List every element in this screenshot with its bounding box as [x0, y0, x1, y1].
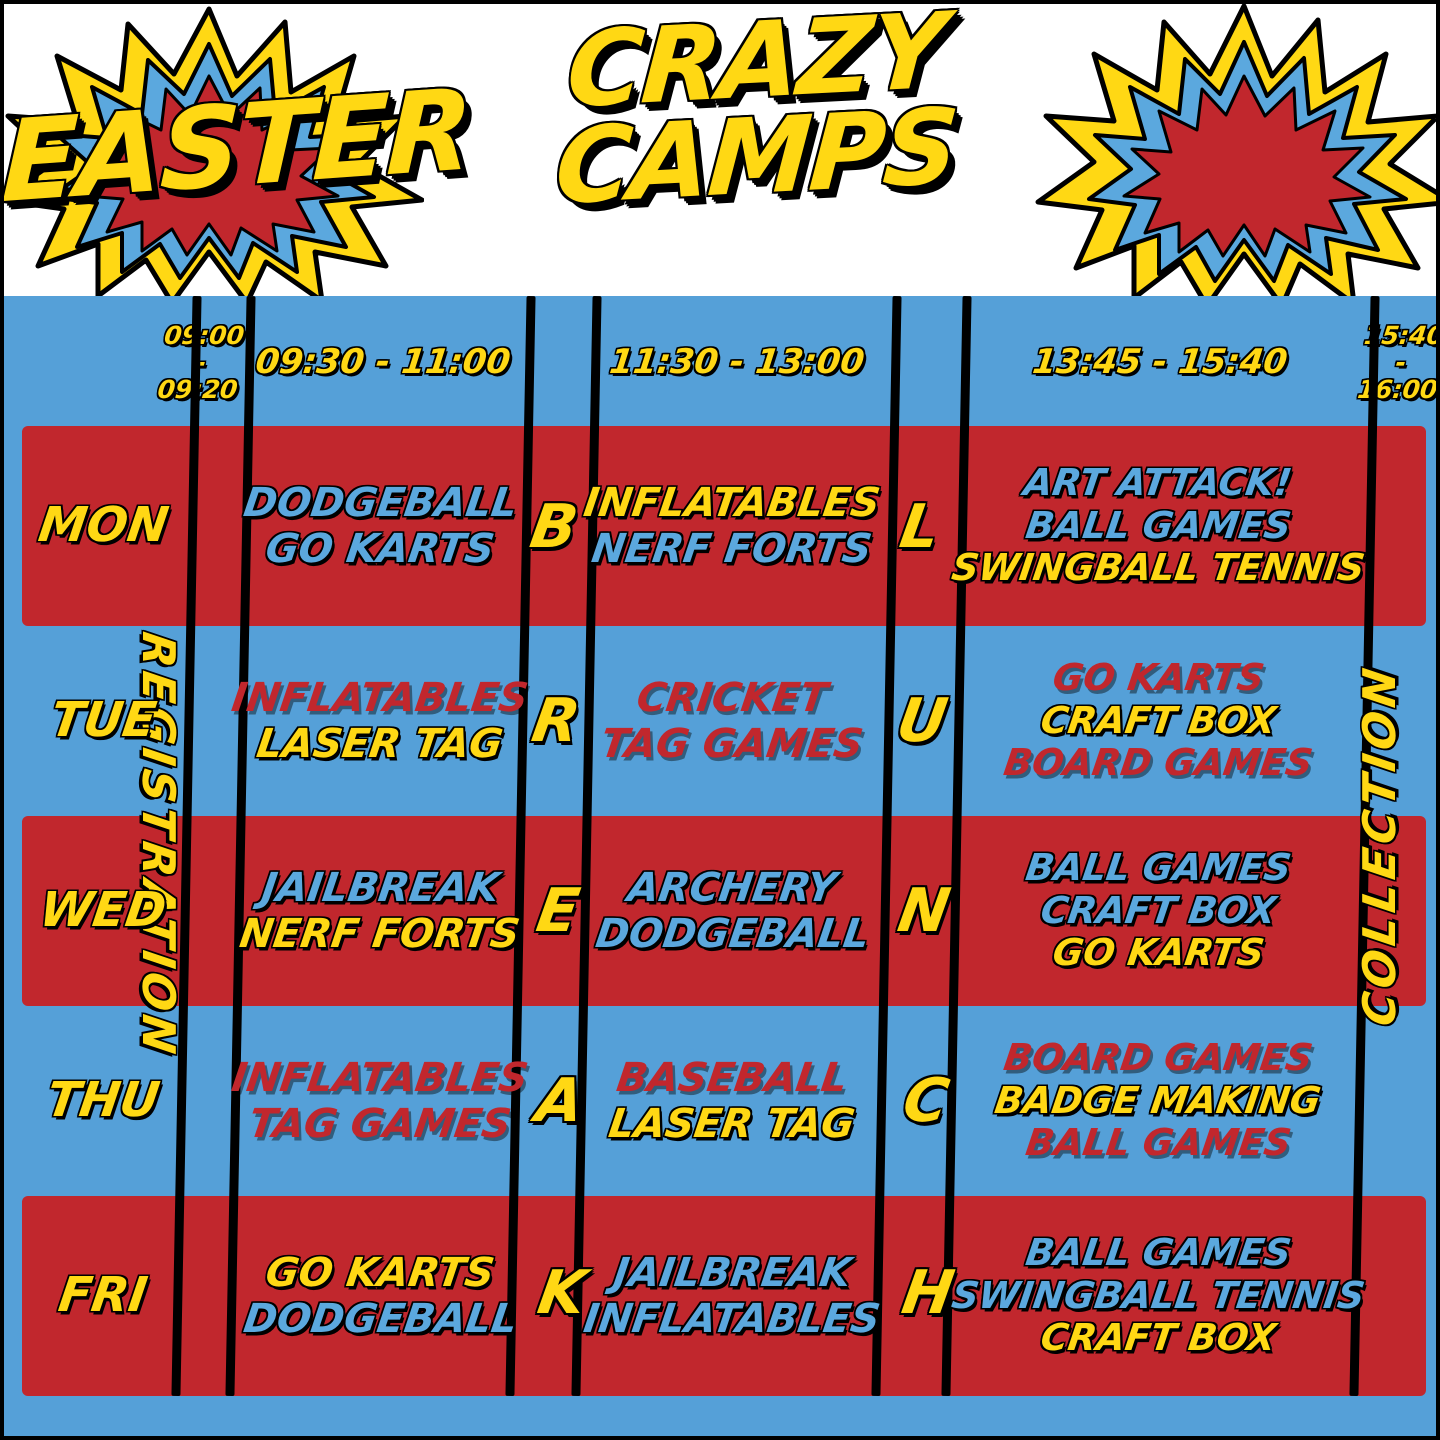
- activity-label: INFLATABLES: [581, 480, 883, 526]
- lunch-letter-1: U: [884, 686, 959, 756]
- day-label-tue: TUE: [24, 626, 182, 816]
- camp-schedule-poster: EASTER CRAZY CAMPS CRAZY ACTIVITIES: [0, 0, 1440, 1440]
- activity-label: INFLATABLES: [581, 1296, 883, 1342]
- cell-mon-session1: DODGEBALL GO KARTS: [244, 426, 516, 626]
- activity-label: DODGEBALL: [592, 911, 872, 957]
- break-letter-0: B: [516, 492, 591, 562]
- lunch-letter-3: C: [888, 1066, 963, 1136]
- cell-tue-session3: GO KARTS CRAFT BOX BOARD GAMES: [956, 626, 1360, 816]
- cell-tue-session1: INFLATABLES LASER TAG: [244, 626, 516, 816]
- crazy-camps-title-wrap: CRAZY CAMPS: [4, 4, 524, 304]
- day-label-text: FRI: [55, 1268, 150, 1324]
- time-header-row: 09:00 - 09:20 09:30 - 11:00 11:30 - 13:0…: [4, 296, 1440, 424]
- activity-label: TAG GAMES: [246, 1101, 514, 1147]
- activity-label: BOARD GAMES: [1001, 742, 1315, 785]
- activity-label: BALL GAMES: [1023, 505, 1294, 548]
- activity-label: SWINGBALL TENNIS: [949, 547, 1367, 590]
- activity-label: SWINGBALL TENNIS: [949, 1275, 1367, 1318]
- cell-thu-session1: INFLATABLES TAG GAMES: [244, 1006, 516, 1196]
- cell-wed-session3: BALL GAMES CRAFT BOX GO KARTS: [956, 816, 1360, 1006]
- day-label-text: THU: [43, 1073, 163, 1129]
- activity-label: GO KARTS: [263, 526, 497, 572]
- activity-label: ART ATTACK!: [1021, 462, 1294, 505]
- activity-label: ARCHERY: [625, 865, 840, 911]
- activity-label: BADGE MAKING: [992, 1080, 1323, 1123]
- cell-fri-session2: JAILBREAK INFLATABLES: [582, 1196, 882, 1396]
- cell-thu-session2: BASEBALL LASER TAG: [582, 1006, 882, 1196]
- day-label-text: TUE: [47, 693, 159, 749]
- cell-mon-session2: INFLATABLES NERF FORTS: [582, 426, 882, 626]
- cell-thu-session3: BOARD GAMES BADGE MAKING BALL GAMES: [956, 1006, 1360, 1196]
- activity-label: JAILBREAK: [258, 865, 501, 911]
- activity-label: CRICKET: [634, 675, 831, 721]
- activity-label: BASEBALL: [614, 1055, 851, 1101]
- day-label-thu: THU: [24, 1006, 182, 1196]
- activity-label: GO KARTS: [1050, 932, 1267, 975]
- day-label-text: MON: [35, 498, 172, 554]
- time-header-session2: 11:30 - 13:00: [585, 304, 889, 420]
- activity-label: LASER TAG: [254, 721, 506, 767]
- activity-label: CRAFT BOX: [1038, 1317, 1279, 1360]
- activity-label: DODGEBALL: [240, 480, 520, 526]
- activity-label: LASER TAG: [606, 1101, 858, 1147]
- cell-wed-session1: JAILBREAK NERF FORTS: [244, 816, 516, 1006]
- activity-label: BOARD GAMES: [1001, 1037, 1315, 1080]
- title-crazy-camps-line2: CAMPS: [553, 98, 960, 215]
- day-label-text: WED: [36, 883, 169, 939]
- lunch-letter-2: N: [886, 876, 961, 946]
- day-label-fri: FRI: [24, 1196, 182, 1396]
- activity-label: CRAFT BOX: [1038, 890, 1279, 933]
- time-header-session1: 09:30 - 11:00: [245, 304, 521, 420]
- activity-label: CRAFT BOX: [1038, 700, 1279, 743]
- activity-label: DODGEBALL: [240, 1296, 520, 1342]
- activity-label: BALL GAMES: [1023, 847, 1294, 890]
- activity-label: INFLATABLES: [229, 1055, 531, 1101]
- activity-label: NERF FORTS: [589, 526, 875, 572]
- time-header-session3: 13:45 - 15:40: [959, 304, 1361, 420]
- activity-label: TAG GAMES: [598, 721, 866, 767]
- activity-label: GO KARTS: [1050, 657, 1267, 700]
- crazy-activities-burst-graphic: CRAZY ACTIVITIES: [1034, 2, 1440, 307]
- day-label-wed: WED: [24, 816, 182, 1006]
- cell-fri-session1: GO KARTS DODGEBALL: [244, 1196, 516, 1396]
- day-label-mon: MON: [24, 426, 182, 626]
- cell-wed-session2: ARCHERY DODGEBALL: [582, 816, 882, 1006]
- lunch-letter-0: L: [882, 492, 957, 562]
- cell-tue-session2: CRICKET TAG GAMES: [582, 626, 882, 816]
- cell-fri-session3: BALL GAMES SWINGBALL TENNIS CRAFT BOX: [956, 1196, 1360, 1396]
- poster-header: EASTER CRAZY CAMPS CRAZY ACTIVITIES: [4, 4, 1440, 296]
- activity-label: INFLATABLES: [229, 675, 531, 721]
- activity-label: BALL GAMES: [1023, 1122, 1294, 1165]
- cell-mon-session3: ART ATTACK! BALL GAMES SWINGBALL TENNIS: [956, 426, 1360, 626]
- activity-label: GO KARTS: [263, 1250, 497, 1296]
- activity-label: NERF FORTS: [237, 911, 523, 957]
- activity-label: JAILBREAK: [610, 1250, 853, 1296]
- activity-label: BALL GAMES: [1023, 1232, 1294, 1275]
- title-crazy-camps: CRAZY CAMPS: [539, 2, 967, 216]
- schedule-grid: 09:00 - 09:20 09:30 - 11:00 11:30 - 13:0…: [4, 296, 1440, 1440]
